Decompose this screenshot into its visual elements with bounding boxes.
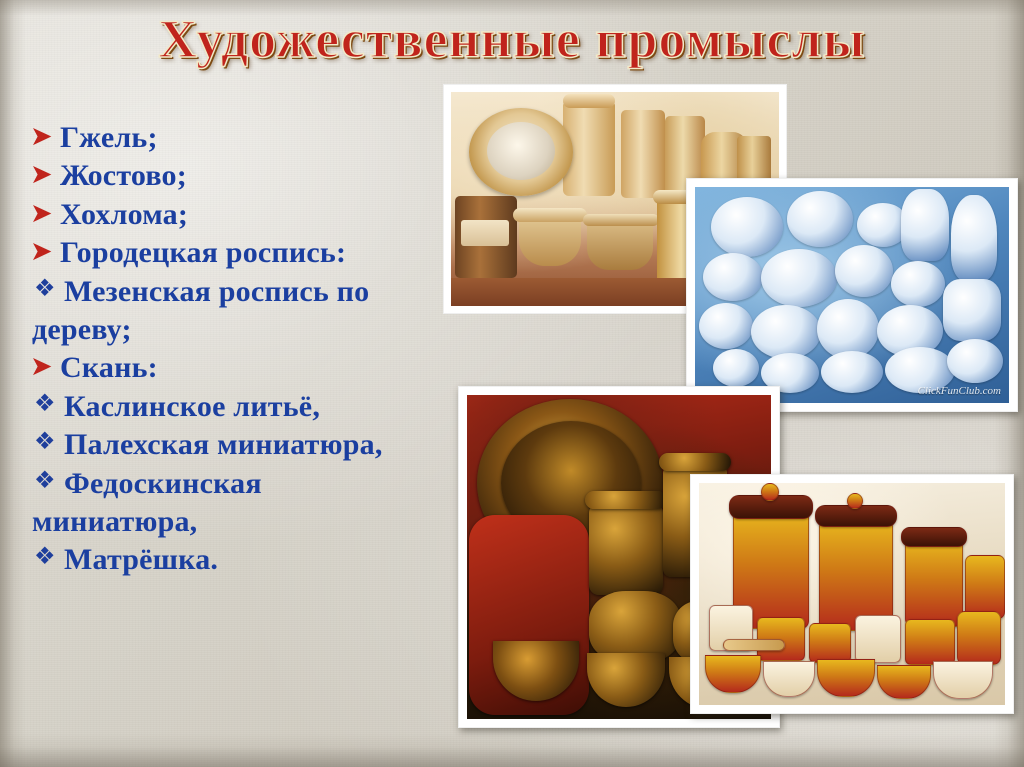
list-item: ❖ Федоскинская bbox=[30, 468, 460, 500]
list-item-continuation: дереву; bbox=[30, 314, 460, 346]
photo-gorodets-image bbox=[699, 483, 1005, 705]
list-item: ➤ Хохлома; bbox=[30, 199, 460, 231]
arrow-bullet-icon: ➤ bbox=[30, 352, 60, 382]
diamond-bullet-icon: ❖ bbox=[30, 429, 64, 455]
list-item-label: миниатюра, bbox=[30, 506, 197, 538]
photo-gorodets-painted-ware bbox=[690, 474, 1014, 714]
photo-watermark: ClickFunClub.com bbox=[918, 385, 1001, 397]
arrow-bullet-icon: ➤ bbox=[30, 122, 60, 152]
list-item-label: Палехская миниатюра, bbox=[64, 429, 383, 461]
arrow-bullet-icon: ➤ bbox=[30, 160, 60, 190]
arrow-bullet-icon: ➤ bbox=[30, 237, 60, 267]
slide-title: Художественные промыслы bbox=[0, 8, 1024, 70]
list-item: ❖ Матрёшка. bbox=[30, 544, 460, 576]
diamond-bullet-icon: ❖ bbox=[30, 544, 64, 570]
list-item: ➤ Скань: bbox=[30, 352, 460, 384]
list-item: ➤ Городецкая роспись: bbox=[30, 237, 460, 269]
list-item: ➤ Гжель; bbox=[30, 122, 460, 154]
list-item-label: Хохлома; bbox=[60, 199, 188, 231]
list-item-label: Городецкая роспись: bbox=[60, 237, 346, 269]
list-item-label: Жостово; bbox=[60, 160, 187, 192]
bullet-list: ➤ Гжель; ➤ Жостово; ➤ Хохлома; ➤ Городец… bbox=[30, 122, 460, 583]
diamond-bullet-icon: ❖ bbox=[30, 468, 64, 494]
list-item-label: дереву; bbox=[30, 314, 132, 346]
list-item: ❖ Каслинское литьё, bbox=[30, 391, 460, 423]
photo-gzhel-blue-porcelain: ClickFunClub.com bbox=[686, 178, 1018, 412]
arrow-bullet-icon: ➤ bbox=[30, 199, 60, 229]
list-item-label: Гжель; bbox=[60, 122, 158, 154]
paper-edge-bottom bbox=[0, 733, 1024, 767]
slide: Художественные промыслы ➤ Гжель; ➤ Жосто… bbox=[0, 0, 1024, 767]
list-item-label: Скань: bbox=[60, 352, 158, 384]
list-item-label: Федоскинская bbox=[64, 468, 262, 500]
list-item-label: Матрёшка. bbox=[64, 544, 218, 576]
list-item: ❖ Палехская миниатюра, bbox=[30, 429, 460, 461]
photo-gzhel-image: ClickFunClub.com bbox=[695, 187, 1009, 403]
list-item-label: Мезенская роспись по bbox=[64, 276, 369, 308]
diamond-bullet-icon: ❖ bbox=[30, 276, 64, 302]
list-item: ➤ Жостово; bbox=[30, 160, 460, 192]
paper-edge-left bbox=[0, 0, 26, 767]
list-item-continuation: миниатюра, bbox=[30, 506, 460, 538]
diamond-bullet-icon: ❖ bbox=[30, 391, 64, 417]
list-item: ❖ Мезенская роспись по bbox=[30, 276, 460, 308]
list-item-label: Каслинское литьё, bbox=[64, 391, 320, 423]
